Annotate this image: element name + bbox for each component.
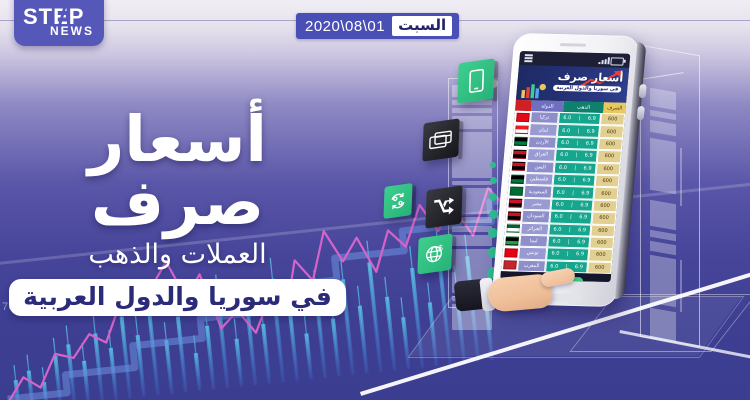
date-value: 2020\08\01 xyxy=(303,18,392,35)
gold-separator: | xyxy=(574,165,576,171)
gold-price-cell: 6.0|6.9 xyxy=(558,112,601,125)
gold-value-sell: 6.9 xyxy=(580,202,588,208)
country-name-cell: الجزائر xyxy=(520,222,549,235)
gold-value-buy: 6.0 xyxy=(563,115,571,121)
country-name-cell: تركيا xyxy=(530,111,559,124)
gold-separator: | xyxy=(572,190,574,196)
country-name-cell: الأردن xyxy=(528,136,557,149)
phone-screen: أسعار صرف في سوريا والدول العربية الدولة… xyxy=(500,51,630,282)
country-flag-cell xyxy=(505,210,522,223)
app-banner-subtitle: في سوريا والدول العربية xyxy=(553,85,621,93)
currency-rate-cell: 600 xyxy=(589,236,614,249)
step-news-logo[interactable]: STEP NEWS xyxy=(14,0,104,46)
gold-value-buy: 6.0 xyxy=(551,251,559,257)
table-body: تركيا6.0|6.9600لبنان6.0|6.9600الأردن6.0|… xyxy=(501,111,625,274)
gold-separator: | xyxy=(575,153,577,159)
flag-icon xyxy=(513,137,527,146)
pointing-hand-illustration xyxy=(455,258,575,320)
battery-icon xyxy=(610,57,624,65)
gold-value-buy: 6.0 xyxy=(553,226,561,232)
gold-price-cell: 6.0|6.9 xyxy=(553,174,596,187)
currency-rate-cell: 600 xyxy=(591,212,616,225)
country-flag-cell xyxy=(508,172,525,185)
gold-value-buy: 6.0 xyxy=(552,239,560,245)
mobile-phone-icon[interactable] xyxy=(457,58,494,103)
date-pill: 2020\08\01 السبت xyxy=(296,13,459,39)
country-flag-cell xyxy=(513,123,530,136)
gold-separator: | xyxy=(578,116,580,122)
country-flag-cell xyxy=(503,234,520,247)
gold-separator: | xyxy=(577,128,579,134)
country-flag-cell xyxy=(504,222,521,235)
gold-price-cell: 6.0|6.9 xyxy=(548,223,591,236)
country-name-cell: اليمن xyxy=(526,161,555,174)
country-flag-cell xyxy=(512,135,529,148)
table-header-country: الدولة xyxy=(531,100,564,112)
table-header-flag xyxy=(515,100,532,111)
gold-value-sell: 6.9 xyxy=(575,264,583,270)
gold-separator: | xyxy=(569,227,571,233)
currency-rate-cell: 600 xyxy=(594,187,619,200)
flag-icon xyxy=(508,199,522,208)
gold-separator: | xyxy=(567,251,569,257)
currency-refresh-icon[interactable] xyxy=(383,183,412,219)
gold-value-buy: 6.0 xyxy=(556,189,564,195)
flag-icon xyxy=(507,211,521,220)
country-flag-cell xyxy=(506,197,523,210)
phone-volume-down-button[interactable] xyxy=(637,106,645,120)
gold-value-buy: 6.0 xyxy=(562,128,570,134)
gold-value-sell: 6.9 xyxy=(578,227,586,233)
gold-price-cell: 6.0|6.9 xyxy=(550,198,593,211)
currency-rate-cell: 600 xyxy=(587,261,612,274)
gold-separator: | xyxy=(576,140,578,146)
credit-cards-icon[interactable] xyxy=(422,118,459,161)
weekday-badge: السبت xyxy=(392,16,452,36)
country-flag-cell xyxy=(514,111,531,124)
gold-value-buy: 6.0 xyxy=(558,177,566,183)
gold-value-sell: 6.9 xyxy=(577,239,585,245)
gold-value-buy: 6.0 xyxy=(559,165,567,171)
gold-value-sell: 6.9 xyxy=(579,215,587,221)
gold-separator: | xyxy=(570,214,572,220)
gold-value-buy: 6.0 xyxy=(561,140,569,146)
country-name-cell: السعودية xyxy=(523,185,552,198)
phone-volume-up-button[interactable] xyxy=(639,84,647,98)
country-name-cell: فلسطين xyxy=(525,173,554,186)
gold-separator: | xyxy=(568,239,570,245)
gold-price-cell: 6.0|6.9 xyxy=(549,211,592,224)
flag-icon xyxy=(505,236,519,245)
currency-rate-cell: 600 xyxy=(600,113,625,126)
currency-rate-cell: 600 xyxy=(595,175,620,188)
flag-icon xyxy=(514,125,528,134)
flag-icon xyxy=(516,112,530,121)
country-flag-cell xyxy=(511,148,528,161)
gold-separator: | xyxy=(571,202,573,208)
page-title: أسعار صرف xyxy=(5,108,350,234)
currency-rate-cell: 600 xyxy=(592,199,617,212)
headline-block: أسعار صرف العملات والذهب في سوريا والدول… xyxy=(5,108,350,316)
coins-chart-icon xyxy=(520,81,548,100)
poster-canvas: 78 25 01 xyxy=(0,0,750,400)
page-subtitle: العملات والذهب xyxy=(5,238,350,272)
gold-separator: | xyxy=(573,177,575,183)
currency-rate-cell: 600 xyxy=(597,150,622,163)
currency-rate-cell: 600 xyxy=(598,138,623,151)
hamburger-icon[interactable] xyxy=(524,54,533,63)
country-name-cell: العراق xyxy=(527,148,556,161)
country-name-cell: لبنان xyxy=(529,124,558,137)
gold-value-sell: 6.9 xyxy=(582,178,590,184)
flag-icon xyxy=(504,248,518,257)
currency-rate-cell: 600 xyxy=(588,249,613,262)
gold-value-sell: 6.9 xyxy=(576,252,584,258)
flag-icon xyxy=(512,150,526,159)
gold-value-sell: 6.9 xyxy=(588,116,596,122)
gold-price-cell: 6.0|6.9 xyxy=(551,186,594,199)
currency-rate-cell: 600 xyxy=(596,162,621,175)
hand-index-finger xyxy=(540,267,576,288)
globe-dollar-icon[interactable]: $ xyxy=(417,233,452,274)
app-banner-title: أسعار صرف xyxy=(557,70,624,85)
gold-price-cell: 6.0|6.9 xyxy=(554,161,597,174)
country-name-cell: مصر xyxy=(522,198,551,211)
flag-icon xyxy=(506,224,520,233)
app-banner: أسعار صرف في سوريا والدول العربية xyxy=(516,65,629,103)
gold-value-buy: 6.0 xyxy=(554,214,562,220)
gold-value-buy: 6.0 xyxy=(560,152,568,158)
gold-price-cell: 6.0|6.9 xyxy=(556,137,599,150)
headline-badge: في سوريا والدول العربية xyxy=(9,279,346,316)
logo-news-text: NEWS xyxy=(50,24,94,38)
flag-icon xyxy=(509,187,523,196)
svg-text:$: $ xyxy=(438,243,443,253)
table-header-currency: الصرف xyxy=(603,102,626,114)
signal-bars-icon xyxy=(598,57,610,64)
exchange-rate-table: الدولة الذهب الصرف تركيا6.0|6.9600لبنان6… xyxy=(501,100,626,274)
country-flag-cell xyxy=(510,160,527,173)
country-name-cell: السودان xyxy=(521,210,550,223)
gold-value-sell: 6.9 xyxy=(583,165,591,171)
gold-value-sell: 6.9 xyxy=(581,190,589,196)
exchange-arrows-icon[interactable] xyxy=(425,185,462,228)
gold-price-cell: 6.0|6.9 xyxy=(547,235,590,248)
gold-price-cell: 6.0|6.9 xyxy=(557,124,600,137)
gold-value-sell: 6.9 xyxy=(587,128,595,134)
country-name-cell: ليبيا xyxy=(519,235,548,248)
gold-price-cell: 6.0|6.9 xyxy=(555,149,598,162)
flag-icon xyxy=(511,162,525,171)
currency-rate-cell: 600 xyxy=(590,224,615,237)
country-flag-cell xyxy=(507,185,524,198)
currency-rate-cell: 600 xyxy=(599,125,624,138)
flag-icon xyxy=(510,174,524,183)
gold-value-buy: 6.0 xyxy=(555,202,563,208)
gold-value-sell: 6.9 xyxy=(584,153,592,159)
gold-value-sell: 6.9 xyxy=(585,141,593,147)
phone-speaker xyxy=(560,43,586,47)
